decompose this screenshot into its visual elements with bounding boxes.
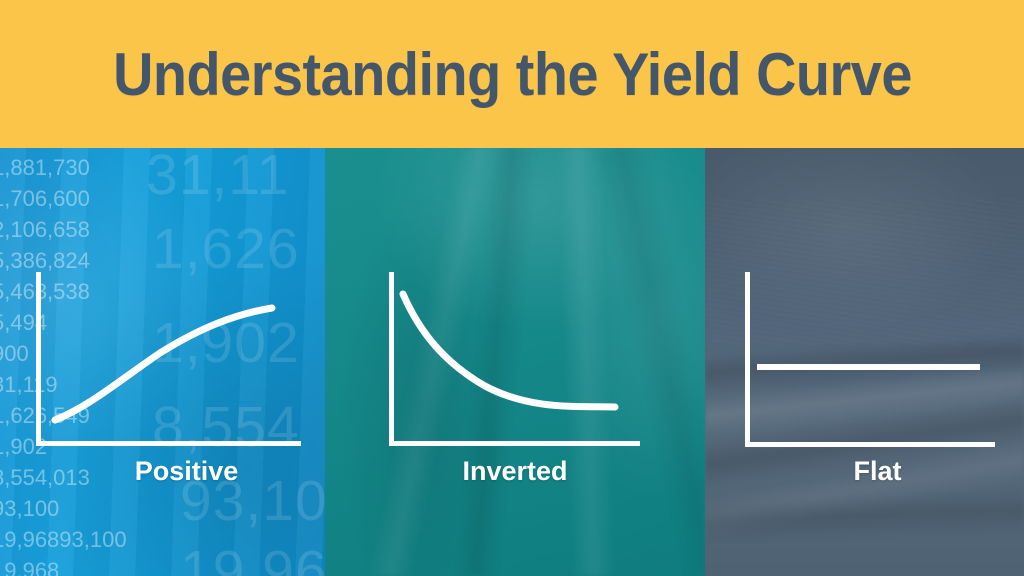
y-axis	[745, 272, 750, 447]
chart-inverted	[325, 148, 705, 576]
title-banner: Understanding the Yield Curve	[0, 0, 1024, 148]
panel-label-positive: Positive	[0, 456, 325, 487]
panel-inverted[interactable]: Inverted	[325, 148, 705, 576]
page-title: Understanding the Yield Curve	[113, 40, 912, 109]
flat-curve-line	[757, 364, 980, 370]
chart-flat	[705, 148, 1024, 576]
panel-label-inverted: Inverted	[325, 456, 705, 487]
panel-flat[interactable]: Flat	[705, 148, 1024, 576]
panel-positive[interactable]: 31,11 1,626 1,902 8,554 93,10 19,96 1,88…	[0, 148, 325, 576]
yield-curve-panels: 31,11 1,626 1,902 8,554 93,10 19,96 1,88…	[0, 148, 1024, 576]
curve-positive	[0, 148, 325, 576]
chart-positive	[0, 148, 325, 576]
slide-root: Understanding the Yield Curve 31,11 1,62…	[0, 0, 1024, 576]
x-axis	[745, 442, 995, 447]
panel-label-flat: Flat	[705, 456, 1024, 487]
curve-inverted	[325, 148, 705, 576]
